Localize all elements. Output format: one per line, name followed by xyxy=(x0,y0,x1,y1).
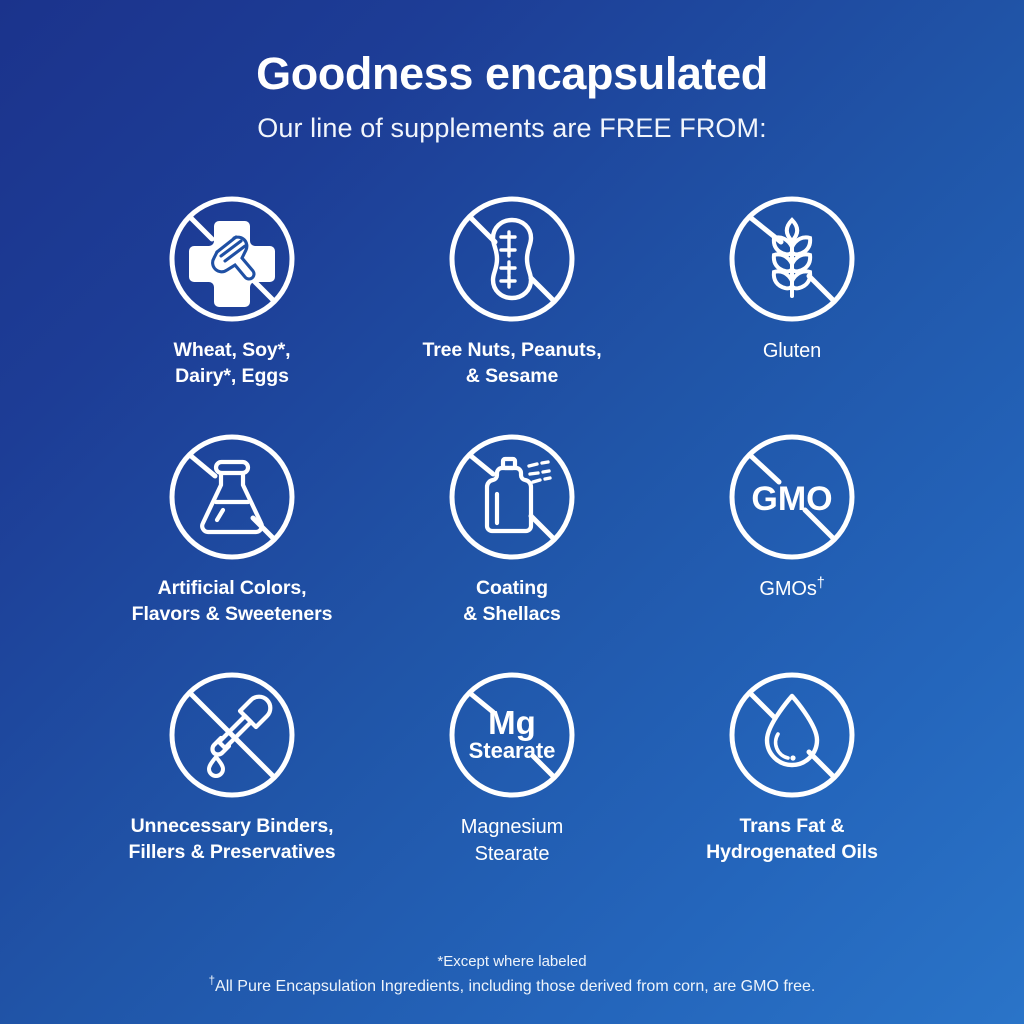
free-from-item-label: Magnesium Stearate xyxy=(461,814,563,867)
free-from-item-gmos: GMO GMOs† xyxy=(657,430,927,668)
free-from-item-label: Unnecessary Binders, Fillers & Preservat… xyxy=(129,814,336,865)
no-binders-fillers-preservatives-icon xyxy=(165,668,299,802)
free-from-item-artificial-colors: Artificial Colors, Flavors & Sweeteners xyxy=(97,430,367,668)
free-from-item-label: GMOs† xyxy=(759,576,824,602)
no-artificial-colors-flavors-sweeteners-icon xyxy=(165,430,299,564)
no-gmo-icon: GMO xyxy=(725,430,859,564)
free-from-item-binders-fillers-preservatives: Unnecessary Binders, Fillers & Preservat… xyxy=(97,668,367,906)
free-from-item-label-text: GMOs xyxy=(759,578,816,600)
free-from-item-tree-nuts-peanuts-sesame: Tree Nuts, Peanuts, & Sesame xyxy=(377,192,647,430)
free-from-item-label: Tree Nuts, Peanuts, & Sesame xyxy=(422,338,601,389)
free-from-item-label: Artificial Colors, Flavors & Sweeteners xyxy=(132,576,333,627)
no-trans-fat-hydrogenated-oils-icon xyxy=(725,668,859,802)
free-from-item-label: Coating & Shellacs xyxy=(463,576,561,627)
no-gluten-icon xyxy=(725,192,859,326)
page-subtitle: Our line of supplements are FREE FROM: xyxy=(257,113,766,144)
free-from-item-coating-shellacs: Coating & Shellacs xyxy=(377,430,647,668)
no-magnesium-stearate-icon: Mg Stearate xyxy=(445,668,579,802)
footnotes: *Except where labeled †All Pure Encapsul… xyxy=(0,950,1024,1000)
gmo-icon-text: GMO xyxy=(751,480,832,518)
dagger-marker: † xyxy=(817,576,825,592)
footnote-dagger-text: All Pure Encapsulation Ingredients, incl… xyxy=(215,978,815,995)
free-from-item-label: Gluten xyxy=(763,338,821,364)
footnote-dagger: †All Pure Encapsulation Ingredients, inc… xyxy=(0,974,1024,1000)
footnote-asterisk: *Except where labeled xyxy=(0,950,1024,974)
free-from-item-wheat-soy-dairy-eggs: Wheat, Soy*, Dairy*, Eggs xyxy=(97,192,367,430)
no-wheat-soy-dairy-eggs-icon xyxy=(165,192,299,326)
free-from-grid: Wheat, Soy*, Dairy*, Eggs xyxy=(92,192,932,906)
stearate-icon-text: Stearate xyxy=(469,738,556,763)
free-from-item-label: Trans Fat & Hydrogenated Oils xyxy=(706,814,878,865)
free-from-item-magnesium-stearate: Mg Stearate Magnesium Stearate xyxy=(377,668,647,906)
no-coating-shellacs-icon xyxy=(445,430,579,564)
no-tree-nuts-peanuts-sesame-icon xyxy=(445,192,579,326)
free-from-item-label: Wheat, Soy*, Dairy*, Eggs xyxy=(174,338,291,389)
free-from-item-trans-fat-hydrogenated-oils: Trans Fat & Hydrogenated Oils xyxy=(657,668,927,906)
free-from-infographic: Goodness encapsulated Our line of supple… xyxy=(0,0,1024,1024)
page-title: Goodness encapsulated xyxy=(256,50,768,97)
mg-icon-text: Mg xyxy=(488,704,536,741)
free-from-item-gluten: Gluten xyxy=(657,192,927,430)
